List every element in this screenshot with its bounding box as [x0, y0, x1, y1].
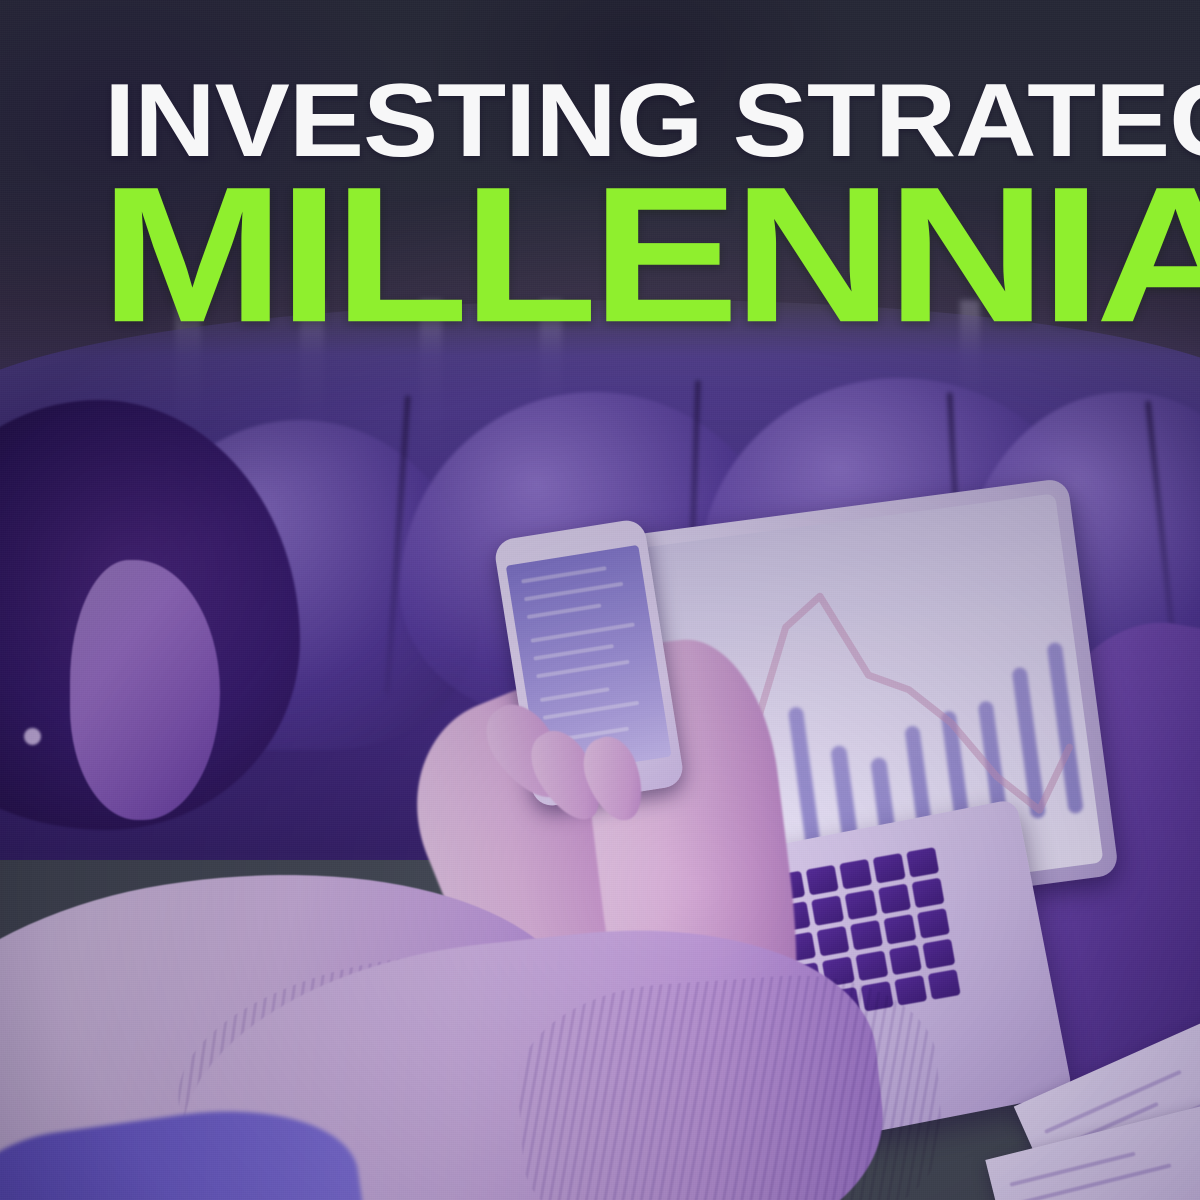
keyboard-key[interactable] — [917, 908, 950, 939]
keyboard-key[interactable] — [845, 889, 878, 920]
keyboard-key[interactable] — [817, 926, 850, 957]
keyboard-key[interactable] — [928, 969, 961, 1000]
keyboard-key[interactable] — [894, 975, 927, 1006]
keyboard-key[interactable] — [873, 853, 906, 884]
keyboard-key[interactable] — [878, 883, 911, 914]
earring — [24, 728, 41, 745]
keyboard-key[interactable] — [912, 878, 945, 909]
keyboard-key[interactable] — [811, 895, 844, 926]
keyboard-key[interactable] — [906, 847, 939, 878]
article-header-poster: INVESTING STRATEGIES MILLENNIA — [0, 0, 1200, 1200]
headline-line-accent: MILLENNIA — [100, 174, 1200, 336]
keyboard-key[interactable] — [922, 939, 955, 970]
keyboard-key[interactable] — [884, 914, 917, 945]
keyboard-key[interactable] — [806, 865, 839, 896]
keyboard-key[interactable] — [839, 859, 872, 890]
keyboard-key[interactable] — [856, 950, 889, 981]
keyboard-key[interactable] — [850, 920, 883, 951]
keyboard-key[interactable] — [889, 945, 922, 976]
